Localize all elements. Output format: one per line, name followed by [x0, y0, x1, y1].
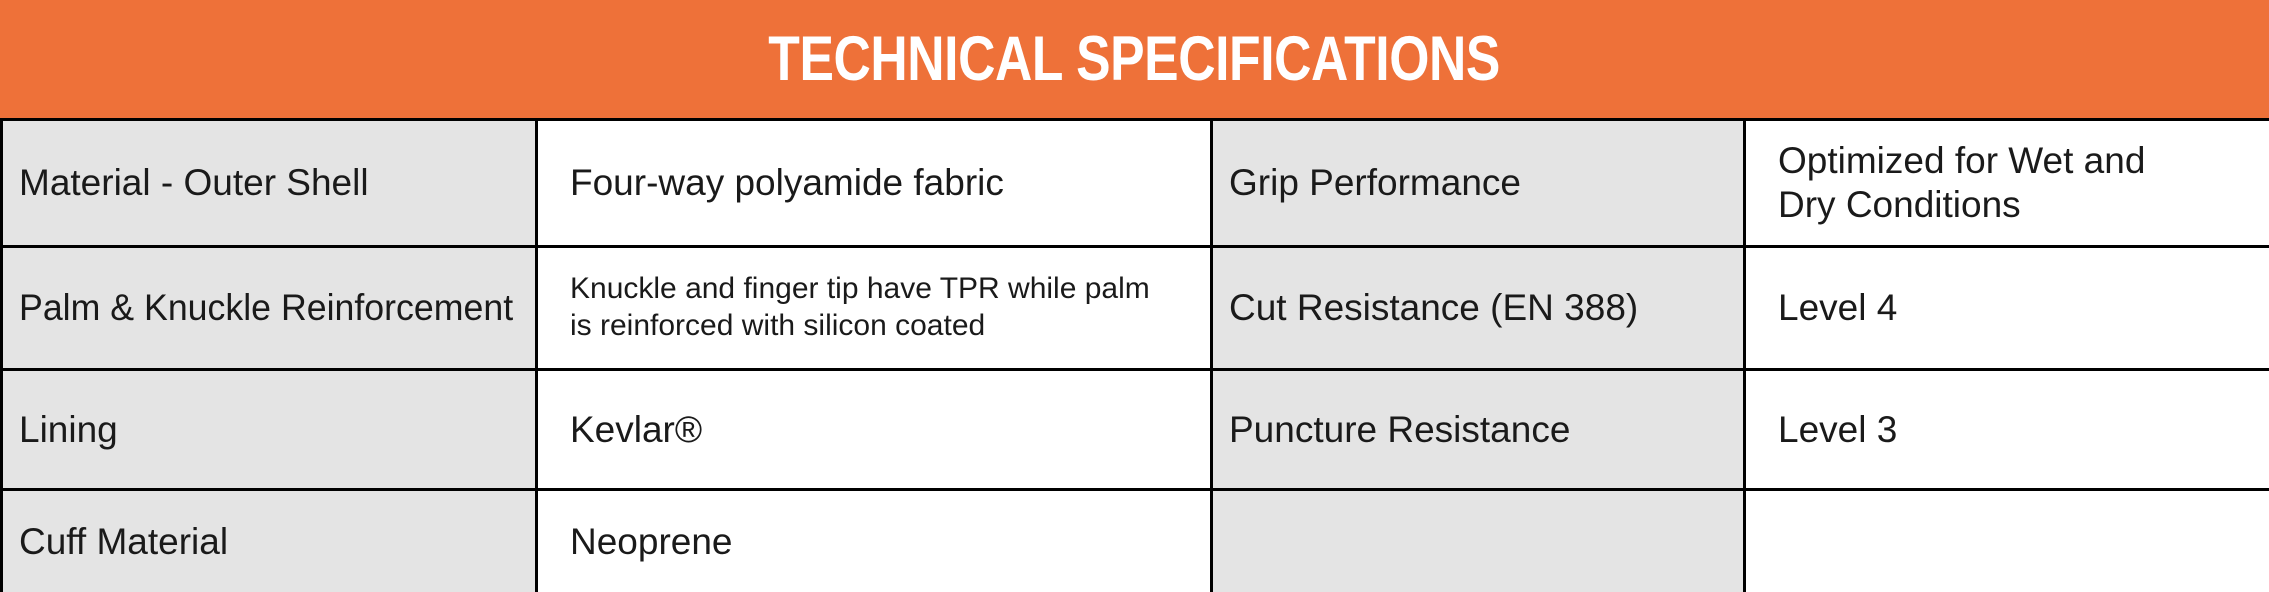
spec-label-text: Grip Performance: [1229, 161, 1743, 205]
spec-label-text: [1229, 541, 1743, 542]
spec-label-puncture-resistance: Puncture Resistance: [1212, 370, 1745, 490]
spec-label-text: Puncture Resistance: [1229, 408, 1743, 452]
spec-value-text: Neoprene: [570, 520, 1210, 564]
technical-specifications-page: TECHNICAL SPECIFICATIONS Material - Oute…: [0, 0, 2269, 592]
spec-value-grip-performance: Optimized for Wet and Dry Conditions: [1745, 120, 2269, 247]
table-row: Material - Outer Shell Four-way polyamid…: [2, 120, 2269, 247]
spec-label-empty: [1212, 490, 1745, 592]
spec-label-lining: Lining: [2, 370, 537, 490]
spec-value-text: Knuckle and finger tip have TPR while pa…: [570, 271, 1210, 344]
spec-label-palm-knuckle-reinforcement: Palm & Knuckle Reinforcement: [2, 247, 537, 370]
table-row: Cuff Material Neoprene: [2, 490, 2269, 592]
spec-label-grip-performance: Grip Performance: [1212, 120, 1745, 247]
spec-value-text: Level 4: [1778, 286, 2269, 330]
spec-value-empty: [1745, 490, 2269, 592]
table-row: Palm & Knuckle Reinforcement Knuckle and…: [2, 247, 2269, 370]
spec-value-text: Optimized for Wet and Dry Conditions: [1778, 139, 2269, 226]
spec-value-lining: Kevlar®: [537, 370, 1212, 490]
spec-value-palm-knuckle-reinforcement: Knuckle and finger tip have TPR while pa…: [537, 247, 1212, 370]
spec-value-material-outer-shell: Four-way polyamide fabric: [537, 120, 1212, 247]
spec-value-text: Four-way polyamide fabric: [570, 161, 1210, 205]
spec-label-text: Lining: [19, 408, 535, 452]
spec-label-text: Cuff Material: [19, 520, 535, 564]
spec-value-text: Kevlar®: [570, 408, 1210, 452]
spec-label-text: Material - Outer Shell: [19, 161, 535, 205]
spec-value-text: Level 3: [1778, 408, 2269, 452]
spec-label-cut-resistance: Cut Resistance (EN 388): [1212, 247, 1745, 370]
spec-value-puncture-resistance: Level 3: [1745, 370, 2269, 490]
spec-value-text: [1778, 541, 2269, 542]
specifications-table: Material - Outer Shell Four-way polyamid…: [0, 118, 2269, 592]
spec-value-cut-resistance: Level 4: [1745, 247, 2269, 370]
spec-label-text: Cut Resistance (EN 388): [1229, 286, 1743, 330]
spec-label-text: Palm & Knuckle Reinforcement: [19, 286, 517, 330]
spec-label-cuff-material: Cuff Material: [2, 490, 537, 592]
page-title: TECHNICAL SPECIFICATIONS: [769, 28, 1501, 91]
spec-value-cuff-material: Neoprene: [537, 490, 1212, 592]
table-row: Lining Kevlar® Puncture Resistance Level…: [2, 370, 2269, 490]
spec-label-material-outer-shell: Material - Outer Shell: [2, 120, 537, 247]
specifications-header-banner: TECHNICAL SPECIFICATIONS: [0, 0, 2269, 118]
